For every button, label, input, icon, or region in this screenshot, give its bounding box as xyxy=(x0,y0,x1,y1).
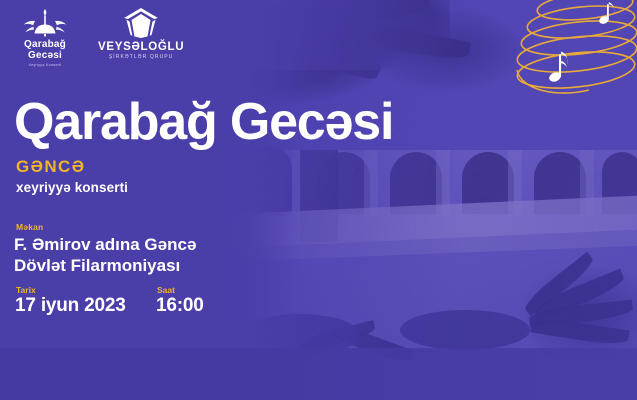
qarabag-gecesi-emblem-icon xyxy=(23,8,67,38)
venue-line-1: F. Əmirov adına Gəncə xyxy=(14,234,196,255)
venue-line-2: Dövlət Filarmoniyası xyxy=(14,255,196,276)
veyseloglu-wordmark: VEYSƏLOĞLU xyxy=(98,41,184,53)
qarabag-gecesi-tagline: Xeyriyyə Konserti xyxy=(28,63,61,67)
date-label: Tarix xyxy=(16,285,36,295)
venue-label: Məkan xyxy=(16,222,43,232)
poster-title: Qarabağ Gecəsi xyxy=(14,95,393,149)
header-logos: Qarabağ Gecəsi Xeyriyyə Konserti VEYSƏLO… xyxy=(14,8,184,67)
logo-line-1: Qarabağ xyxy=(24,40,66,51)
concert-poster: Qarabağ Gecəsi Xeyriyyə Konserti VEYSƏLO… xyxy=(0,0,637,400)
logo-veyseloglu[interactable]: VEYSƏLOĞLU ŞİRKƏTLƏR QRUPU xyxy=(98,8,184,60)
event-kicker: xeyriyyə konserti xyxy=(16,180,128,195)
music-staff-spiral-icon xyxy=(507,0,637,124)
logo-line-2: Gecəsi xyxy=(24,51,66,62)
footer-sponsor-strip: Qarabağ Dirçəliş Fondu Azərbaycan Respub… xyxy=(0,348,637,400)
logo-qarabag-gecesi[interactable]: Qarabağ Gecəsi Xeyriyyə Konserti xyxy=(14,8,76,67)
time-label: Saat xyxy=(157,285,175,295)
venue-name: F. Əmirov adına Gəncə Dövlət Filarmoniya… xyxy=(14,234,196,276)
time-value: 16:00 xyxy=(156,295,204,317)
city-label: GƏNCƏ xyxy=(16,157,85,177)
veyseloglu-diamond-icon xyxy=(124,8,158,38)
date-value: 17 iyun 2023 xyxy=(15,295,126,317)
veyseloglu-tagline: ŞİRKƏTLƏR QRUPU xyxy=(109,54,174,60)
qarabag-gecesi-wordmark: Qarabağ Gecəsi xyxy=(24,40,66,61)
